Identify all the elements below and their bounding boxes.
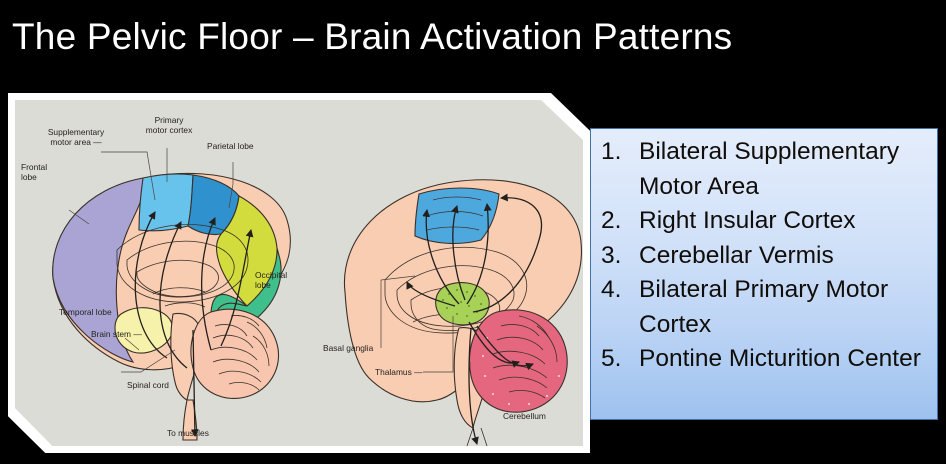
page-title: The Pelvic Floor – Brain Activation Patt…: [12, 11, 912, 65]
list-item: 4. Bilateral Primary Motor Cortex: [599, 273, 931, 342]
list-item-label: Cerebellar Vermis: [639, 239, 931, 274]
brain-activation-diagram: .out { stroke:#3b3029; stroke-width:1.1;…: [15, 100, 583, 446]
activation-list: 1. Bilateral Supplementary Motor Area 2.…: [591, 129, 937, 377]
list-item-label: Bilateral Supplementary Motor Area: [639, 135, 931, 204]
label-basal-ganglia: Basal ganglia: [323, 344, 373, 354]
list-item: 5. Pontine Micturition Center: [599, 342, 931, 377]
list-item-number: 5.: [599, 342, 639, 377]
list-item-number: 3.: [599, 239, 639, 274]
label-primary-motor-cortex: Primary motor cortex: [135, 116, 203, 135]
activation-list-box: 1. Bilateral Supplementary Motor Area 2.…: [590, 128, 938, 420]
figure-panel: .out { stroke:#3b3029; stroke-width:1.1;…: [8, 93, 590, 453]
label-cerebellum: Cerebellum: [503, 412, 546, 422]
label-occipital-lobe: Occipital lobe: [255, 271, 287, 290]
label-spinal-cord: Spinal cord: [127, 381, 169, 391]
label-supplementary-motor-area: Supplementary motor area —: [37, 128, 115, 147]
list-item: 1. Bilateral Supplementary Motor Area: [599, 135, 931, 204]
label-parietal-lobe: Parietal lobe: [207, 142, 254, 152]
label-frontal-lobe: Frontal lobe: [21, 163, 47, 182]
slide-canvas: The Pelvic Floor – Brain Activation Patt…: [0, 0, 946, 464]
label-to-muscles: To muscles: [167, 429, 209, 439]
list-item: 2. Right Insular Cortex: [599, 204, 931, 239]
list-item-label: Pontine Micturition Center: [639, 342, 931, 377]
list-item-label: Right Insular Cortex: [639, 204, 931, 239]
label-temporal-lobe: Temporal lobe: [59, 308, 112, 318]
figure-panel-inner: .out { stroke:#3b3029; stroke-width:1.1;…: [15, 100, 583, 446]
label-thalamus: Thalamus —: [375, 368, 422, 378]
list-item-number: 4.: [599, 273, 639, 308]
list-item-number: 1.: [599, 135, 639, 170]
label-brain-stem: Brain stem —: [91, 330, 142, 340]
list-item: 3. Cerebellar Vermis: [599, 239, 931, 274]
list-item-label: Bilateral Primary Motor Cortex: [639, 273, 931, 342]
list-item-number: 2.: [599, 204, 639, 239]
